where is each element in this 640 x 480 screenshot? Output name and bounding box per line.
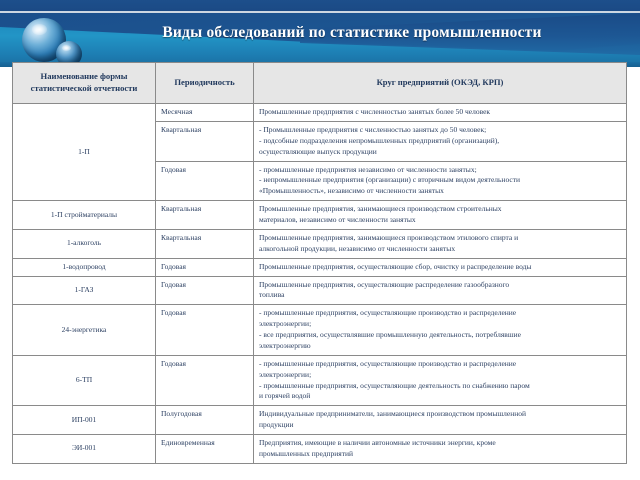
cell-periodicity: Годовая: [156, 258, 254, 276]
cell-scope-line: электроэнергии;: [259, 319, 621, 330]
table-header: Наименование формы статистической отчетн…: [13, 63, 627, 104]
cell-scope: Промышленные предприятия, занимающиеся п…: [254, 201, 627, 230]
page-title: Виды обследований по статистике промышле…: [72, 24, 632, 42]
table-row: 1-ПМесячнаяПромышленные предприятия с чи…: [13, 104, 627, 122]
cell-scope-line: Предприятия, имеющие в наличии автономны…: [259, 438, 621, 449]
cell-scope-line: электроэнергии;: [259, 370, 621, 381]
slide-canvas: Виды обследований по статистике промышле…: [0, 0, 640, 480]
cell-scope-line: - промышленные предприятия, осуществляющ…: [259, 308, 621, 319]
cell-periodicity: Квартальная: [156, 121, 254, 161]
table-row: 1-ГАЗГодоваяПромышленные предприятия, ос…: [13, 276, 627, 305]
table-header-row: Наименование формы статистической отчетн…: [13, 63, 627, 104]
column-header-form-name-line1: Наименование формы: [16, 71, 152, 83]
cell-periodicity: Годовая: [156, 355, 254, 406]
cell-periodicity: Годовая: [156, 161, 254, 201]
cell-periodicity: Полугодовая: [156, 406, 254, 435]
cell-form-name: 1-водопровод: [13, 258, 156, 276]
cell-scope-line: Промышленные предприятия, осуществляющие…: [259, 280, 621, 291]
cell-form-name: 1-П стройматериалы: [13, 201, 156, 230]
table-row: 1-водопроводГодоваяПромышленные предприя…: [13, 258, 627, 276]
cell-scope-line: - непромышленные предприятия (организаци…: [259, 175, 621, 186]
cell-scope-line: - все предприятия, осуществлявшие промыш…: [259, 330, 621, 341]
table-row: 1-алкогольКвартальнаяПромышленные предпр…: [13, 229, 627, 258]
cell-scope-line: осуществляющие выпуск продукции: [259, 147, 621, 158]
cell-scope-line: топлива: [259, 290, 621, 301]
cell-scope: Промышленные предприятия, осуществляющие…: [254, 276, 627, 305]
cell-scope-line: Индивидуальные предприниматели, занимающ…: [259, 409, 621, 420]
cell-periodicity: Квартальная: [156, 229, 254, 258]
banner-top-strip: [0, 0, 640, 11]
cell-scope-line: Промышленные предприятия, занимающиеся п…: [259, 233, 621, 244]
cell-scope-line: материалов, независимо от численности за…: [259, 215, 621, 226]
column-header-form-name-line2: статистической отчетности: [16, 83, 152, 95]
cell-scope-line: продукции: [259, 420, 621, 431]
cell-scope: - промышленные предприятия независимо от…: [254, 161, 627, 201]
slide-banner: Виды обследований по статистике промышле…: [0, 0, 640, 67]
cell-scope-line: - Промышленные предприятия с численность…: [259, 125, 621, 136]
cell-form-name: ИП-001: [13, 406, 156, 435]
table-body: 1-ПМесячнаяПромышленные предприятия с чи…: [13, 104, 627, 464]
cell-scope: Индивидуальные предприниматели, занимающ…: [254, 406, 627, 435]
cell-scope-line: «Промышленность», независимо от численно…: [259, 186, 621, 197]
cell-periodicity: Годовая: [156, 305, 254, 356]
cell-form-name: 1-ГАЗ: [13, 276, 156, 305]
column-header-form-name: Наименование формы статистической отчетн…: [13, 63, 156, 104]
table-row: ЭИ-001ЕдиновременнаяПредприятия, имеющие…: [13, 435, 627, 464]
cell-scope-line: - промышленные предприятия, осуществляющ…: [259, 381, 621, 392]
cell-scope-line: алкогольной продукции, независимо от чис…: [259, 244, 621, 255]
cell-scope: - Промышленные предприятия с численность…: [254, 121, 627, 161]
cell-scope: Предприятия, имеющие в наличии автономны…: [254, 435, 627, 464]
cell-scope-line: промышленных предприятий: [259, 449, 621, 460]
cell-scope: - промышленные предприятия, осуществляющ…: [254, 355, 627, 406]
table-row: ИП-001ПолугодоваяИндивидуальные предприн…: [13, 406, 627, 435]
cell-scope: Промышленные предприятия, занимающиеся п…: [254, 229, 627, 258]
cell-periodicity: Годовая: [156, 276, 254, 305]
table-row: 1-П стройматериалыКвартальнаяПромышленны…: [13, 201, 627, 230]
survey-types-table: Наименование формы статистической отчетн…: [12, 62, 627, 464]
cell-form-name: 1-алкоголь: [13, 229, 156, 258]
cell-scope-line: и горячей водой: [259, 391, 621, 402]
cell-scope-line: Промышленные предприятия, осуществляющие…: [259, 262, 621, 273]
cell-form-name: 1-П: [13, 104, 156, 201]
cell-form-name: ЭИ-001: [13, 435, 156, 464]
cell-scope-line: - промышленные предприятия независимо от…: [259, 165, 621, 176]
cell-scope-line: - промышленные предприятия, осуществляющ…: [259, 359, 621, 370]
cell-periodicity: Квартальная: [156, 201, 254, 230]
table-row: 24-энергетикаГодовая- промышленные предп…: [13, 305, 627, 356]
cell-scope-line: электроэнергию: [259, 341, 621, 352]
table-row: 6-ТПГодовая- промышленные предприятия, о…: [13, 355, 627, 406]
cell-scope-line: Промышленные предприятия с численностью …: [259, 107, 621, 118]
cell-scope: Промышленные предприятия с численностью …: [254, 104, 627, 122]
column-header-scope: Круг предприятий (ОКЭД, КРП): [254, 63, 627, 104]
cell-periodicity: Единовременная: [156, 435, 254, 464]
cell-form-name: 24-энергетика: [13, 305, 156, 356]
cell-scope: - промышленные предприятия, осуществляющ…: [254, 305, 627, 356]
cell-periodicity: Месячная: [156, 104, 254, 122]
cell-scope: Промышленные предприятия, осуществляющие…: [254, 258, 627, 276]
survey-types-table-wrapper: Наименование формы статистической отчетн…: [12, 62, 626, 464]
column-header-periodicity: Периодичность: [156, 63, 254, 104]
cell-scope-line: - подсобные подразделения непромышленных…: [259, 136, 621, 147]
cell-form-name: 6-ТП: [13, 355, 156, 406]
cell-scope-line: Промышленные предприятия, занимающиеся п…: [259, 204, 621, 215]
